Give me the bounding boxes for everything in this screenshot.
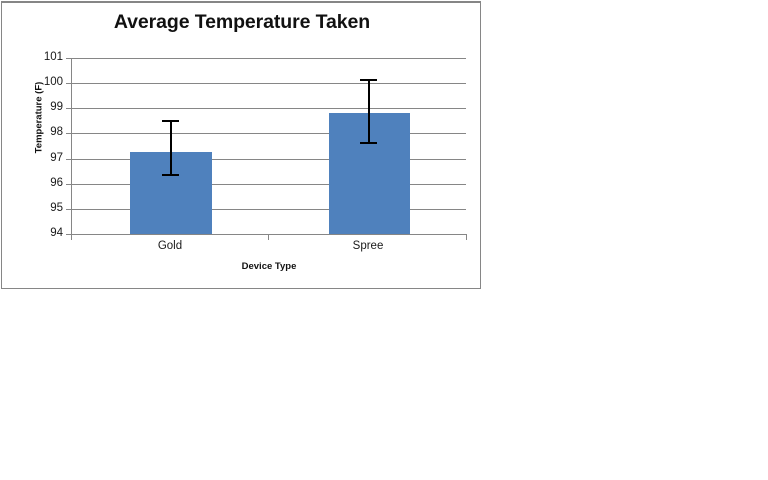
error-bar-cap-upper-gold [162, 120, 179, 122]
y-tick-101 [66, 58, 72, 59]
chart-frame: Average Temperature Taken [1, 1, 481, 289]
x-axis-title: Device Type [71, 261, 467, 272]
x-axis-category-label-spree: Spree [308, 240, 428, 252]
gridline-101 [71, 58, 466, 59]
error-bar-stem-spree [368, 79, 370, 143]
gridline-hidden [2, 2, 480, 3]
y-tick-98 [66, 133, 72, 134]
error-bar-cap-lower-gold [162, 174, 179, 176]
y-axis-label: 94 [37, 228, 63, 240]
y-axis-label: 95 [37, 203, 63, 215]
error-bar-cap-lower-spree [360, 142, 377, 144]
y-tick-100 [66, 83, 72, 84]
gridline-99 [71, 108, 466, 109]
x-tick-middle [268, 235, 269, 240]
chart-title: Average Temperature Taken [2, 11, 482, 34]
y-axis-label: 96 [37, 178, 63, 190]
gridline-100 [71, 83, 466, 84]
y-axis-title: Temperature (F) [34, 58, 45, 178]
error-bar-cap-upper-spree [360, 79, 377, 81]
y-tick-99 [66, 108, 72, 109]
x-axis-line [71, 234, 467, 235]
x-tick-end [466, 235, 467, 240]
plot-area [71, 58, 466, 234]
y-tick-96 [66, 184, 72, 185]
x-tick-start [71, 235, 72, 240]
error-bar-stem-gold [170, 120, 172, 175]
screenshot-root: { "chart_data": { "type": "bar", "title"… [0, 0, 768, 480]
y-tick-97 [66, 159, 72, 160]
y-tick-95 [66, 209, 72, 210]
x-axis-category-label-gold: Gold [110, 240, 230, 252]
